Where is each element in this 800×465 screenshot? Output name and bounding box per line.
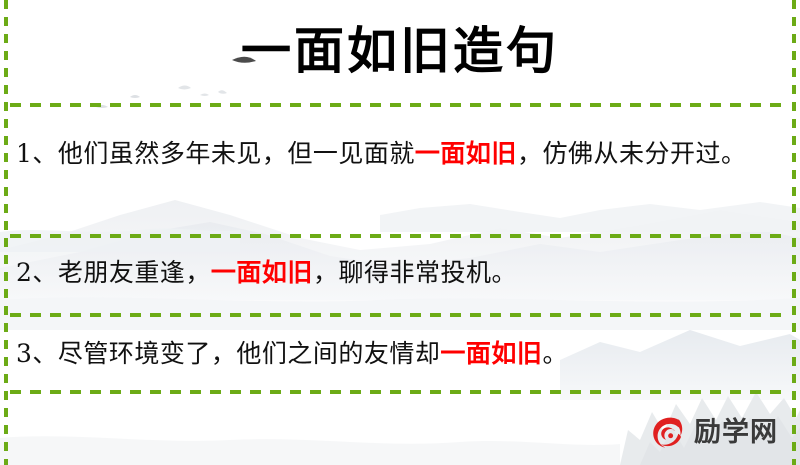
sentence-2-before: 老朋友重逢， [58, 258, 211, 287]
sentence-3-after: 。 [542, 339, 568, 368]
sentence-item-1: 1、他们虽然多年未见，但一见面就一面如旧，仿佛从未分开过。 [16, 133, 782, 175]
sentence-1-keyword: 一面如旧 [415, 139, 517, 168]
divider-2 [10, 234, 790, 238]
sentence-3-index: 3、 [16, 339, 58, 368]
sentence-2-index: 2、 [16, 258, 58, 287]
sentence-2-after: ，聊得非常投机。 [313, 258, 517, 287]
sentence-3-keyword: 一面如旧 [440, 339, 542, 368]
sentence-item-2: 2、老朋友重逢，一面如旧，聊得非常投机。 [16, 252, 782, 294]
sentence-item-3: 3、尽管环境变了，他们之间的友情却一面如旧。 [16, 333, 782, 375]
divider-1 [10, 103, 790, 107]
site-logo-text: 励学网 [694, 418, 778, 448]
site-logo[interactable]: 励学网 [648, 411, 778, 455]
red-swirl-flame-icon [648, 413, 688, 453]
page-title: 一面如旧造句 [0, 20, 800, 82]
page-root: 一面如旧造句 1、他们虽然多年未见，但一见面就一面如旧，仿佛从未分开过。 2、老… [0, 0, 800, 465]
sentence-3-before: 尽管环境变了，他们之间的友情却 [58, 339, 441, 368]
sentence-1-index: 1、 [16, 139, 58, 168]
sentence-1-before: 他们虽然多年未见，但一见面就 [58, 139, 415, 168]
sentence-1-after: ，仿佛从未分开过。 [517, 139, 747, 168]
sentence-2-keyword: 一面如旧 [211, 258, 313, 287]
divider-4 [10, 390, 790, 394]
divider-3 [10, 313, 790, 317]
